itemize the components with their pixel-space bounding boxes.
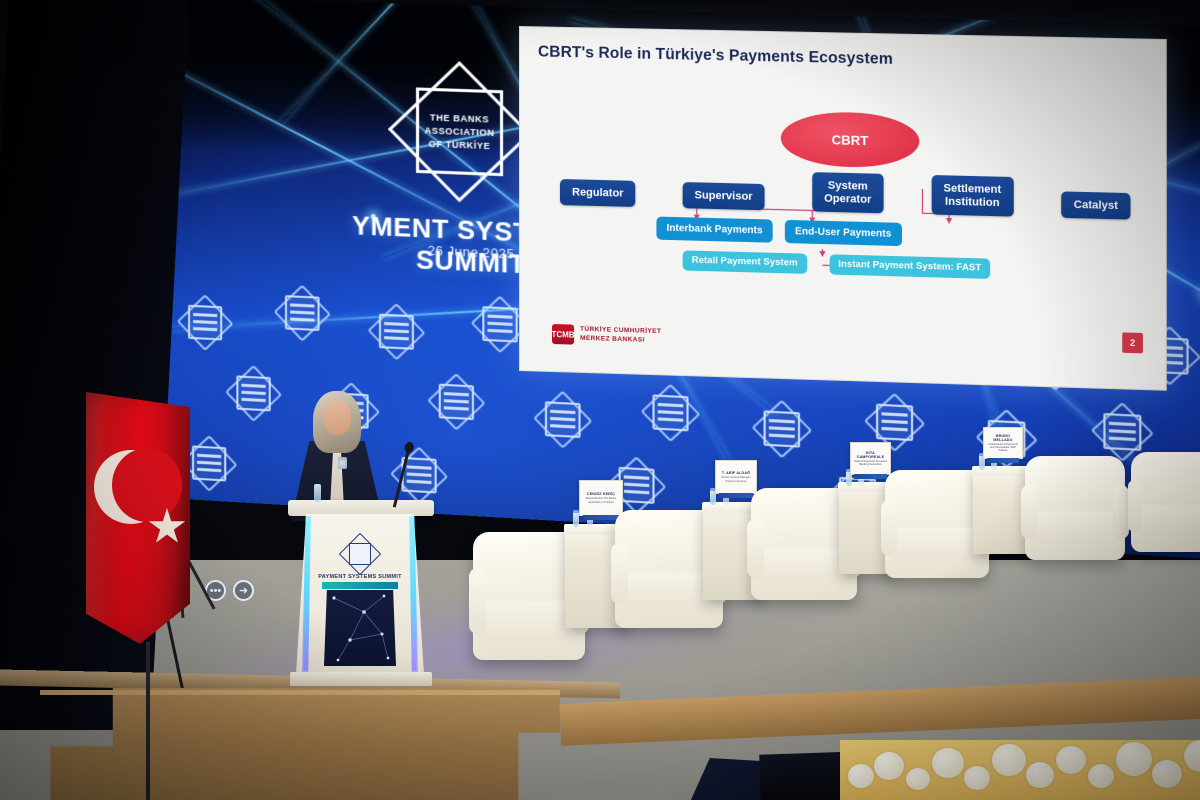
turkish-flag [86,392,190,644]
backdrop-logo-badge [279,289,326,338]
stage-steps [40,688,560,800]
backdrop-logo-badge [646,388,695,438]
panel-chair[interactable] [1131,452,1200,552]
speaker-brooch [338,457,347,469]
level2-box-end-user-payments: End-User Payments [785,220,902,246]
stage-step-edge [40,690,560,695]
screen-overlay-icons: ••• ➜ [205,580,254,601]
slide-level2-row: Interbank Payments End-User Payments [656,217,961,248]
role-box-regulator: Regulator [560,179,636,208]
podium-water-bottle [314,484,321,502]
backdrop-logo-badge [373,307,420,356]
slide-level3-row: Retail Payment System Instant Payment Sy… [683,250,1112,282]
level2-box-interbank-payments: Interbank Payments [656,217,772,243]
logo-line-3: OF TÜRKİYE [429,139,491,151]
podium-association-logo [344,538,376,570]
slide-footer-logo: TCMB TÜRKİYE CUMHURİYET MERKEZ BANKASI [552,324,661,347]
podium-network-graphic [324,590,396,666]
slide-page-number: 2 [1122,332,1143,353]
backdrop-association-logo: THE BANKS ASSOCIATION OF TÜRKİYE [404,75,516,189]
podium-event-title: PAYMENT SYSTEMS SUMMIT [310,574,410,580]
backdrop-logo-badge [182,298,228,346]
next-arrow-icon[interactable]: ➜ [233,580,254,601]
speaker-person [291,383,383,518]
speaker-face [324,401,351,435]
placard-title: Board Member The Banks Association of Tü… [582,497,620,503]
slide-central-node: CBRT [781,111,920,169]
speaking-podium: PAYMENT SYSTEMS SUMMIT 26 June 2025 [296,500,424,690]
logo-line-2: ASSOCIATION [425,125,495,138]
placard-name: T. ARİF ALDAĞ [722,471,750,475]
conference-stage-photo: THE BANKS ASSOCIATION OF TÜRKİYE YMENT S… [0,0,1200,800]
name-placard: T. ARİF ALDAĞ Deputy General Manager Pay… [715,460,757,494]
role-box-catalyst: Catalyst [1061,191,1130,220]
logo-line-1: THE BANKS [430,112,489,124]
panel-seating-area: CENGİZ KERİÇ Board Member The Banks Asso… [455,440,1200,670]
tcmb-mark-icon: TCMB [552,324,574,345]
backdrop-logo-badge [433,377,481,426]
backdrop-logo-badge [230,369,277,418]
backdrop-logo-badge [476,300,524,349]
slide-role-row: Regulator Supervisor System Operator Set… [560,166,1130,220]
placard-name: BRUNO MELLADO [986,434,1020,442]
role-box-supervisor: Supervisor [682,182,764,211]
podium-graphic-panel [324,590,396,666]
placard-title: Deputy General Manager Payment Systems [718,476,754,482]
backdrop-logo-badge [539,395,587,445]
flag-cloth [86,392,190,644]
backdrop-logo-badge [186,439,232,488]
placard-name: RITA CAMPOREALE [853,451,888,459]
level3-box-retail-payment-system: Retail Payment System [683,250,807,274]
slide-title: CBRT's Role in Türkiye's Payments Ecosys… [538,43,893,69]
name-placard: RITA CAMPOREALE Head of Payments Europea… [850,442,891,475]
presentation-slide: CBRT's Role in Türkiye's Payments Ecosys… [519,26,1167,391]
crescent-icon [94,450,168,524]
role-box-system-operator: System Operator [812,172,884,213]
placard-title: Global Head of Payments and Receivables,… [986,443,1020,453]
name-placard: CENGİZ KERİÇ Board Member The Banks Asso… [579,480,623,516]
name-placard: BRUNO MELLADO Global Head of Payments an… [983,427,1023,459]
flower-arrangement [840,740,1200,800]
flag-pole [146,642,150,800]
role-box-settlement-institution: Settlement Institution [931,175,1013,217]
level3-box-instant-payment-fast: Instant Payment System: FAST [829,254,990,279]
placard-title: Head of Payments European Banking Federa… [853,460,888,466]
placard-name: CENGİZ KERİÇ [587,492,615,496]
panel-chair[interactable] [1025,456,1125,560]
